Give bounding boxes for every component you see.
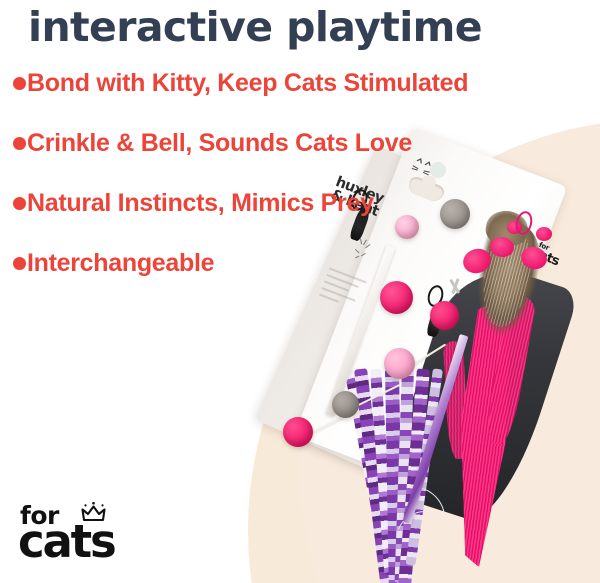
- bullet-dot-icon: [13, 197, 26, 210]
- feature-list: Bond with Kitty, Keep Cats Stimulated Cr…: [13, 68, 483, 308]
- bullet-dot-icon: [13, 77, 26, 90]
- list-item: Crinkle & Bell, Sounds Cats Love: [13, 128, 483, 188]
- list-item: Interchangeable: [13, 248, 483, 308]
- list-item-label: Natural Instincts, Mimics Prey: [27, 188, 374, 219]
- list-item-label: Crinkle & Bell, Sounds Cats Love: [27, 128, 412, 159]
- brand-logo-for-cats: for cats: [18, 497, 168, 569]
- bullet-dot-icon: [13, 257, 26, 270]
- list-item-label: Interchangeable: [27, 248, 214, 279]
- product-feature-banner: huxley & kent for cats: [0, 0, 600, 583]
- bullet-dot-icon: [13, 137, 26, 150]
- list-item: Natural Instincts, Mimics Prey: [13, 188, 483, 248]
- brand-logo-line-cats: cats: [18, 519, 115, 564]
- list-item: Bond with Kitty, Keep Cats Stimulated: [13, 68, 483, 128]
- pom-pom: [283, 417, 313, 447]
- pom-pom: [384, 348, 415, 379]
- page-title: interactive playtime: [28, 2, 588, 52]
- list-item-label: Bond with Kitty, Keep Cats Stimulated: [27, 68, 468, 99]
- pink-feather-disc: [536, 227, 552, 241]
- pom-pom: [332, 391, 359, 418]
